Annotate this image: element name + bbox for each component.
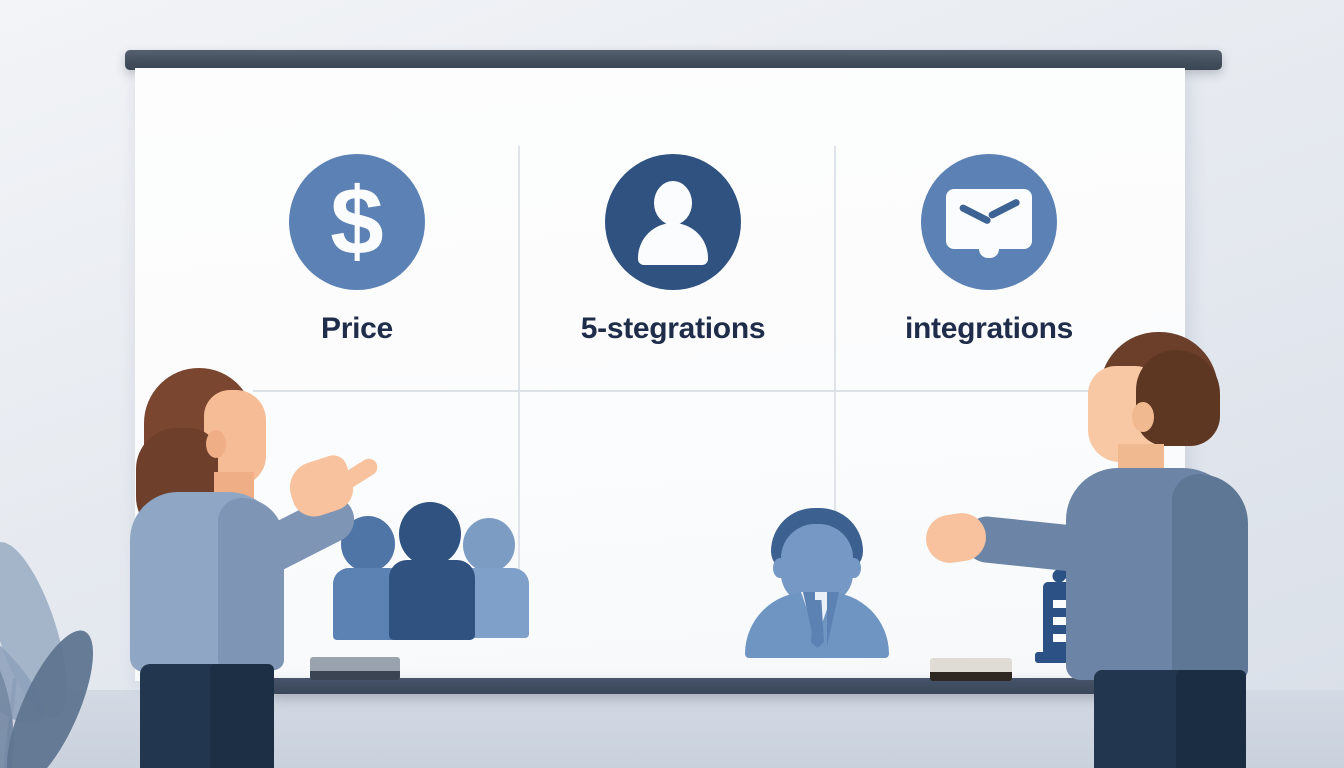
- man-hair-top: [1136, 350, 1220, 446]
- cell-price[interactable]: $ Price: [199, 154, 515, 346]
- dollar-circle-icon[interactable]: $: [289, 154, 425, 290]
- woman-ear: [206, 430, 226, 458]
- businessman-icon[interactable]: [745, 508, 905, 658]
- envelope-circle-icon[interactable]: [921, 154, 1057, 290]
- whiteboard-eraser-right[interactable]: [930, 658, 1012, 680]
- user-circle-icon[interactable]: [605, 154, 741, 290]
- user-glyph: [628, 179, 718, 265]
- group-person-body: [389, 560, 475, 640]
- businessman-lapel: [785, 592, 815, 646]
- user-shoulders: [638, 223, 708, 265]
- envelope-glyph: [946, 189, 1032, 255]
- user-head: [654, 181, 692, 225]
- eraser-base: [930, 672, 1012, 681]
- man-pants-shadow: [1176, 670, 1246, 768]
- cell-integrations[interactable]: integrations: [831, 154, 1147, 346]
- man-ear: [1132, 402, 1154, 432]
- man-sweater-shadow: [1172, 474, 1248, 680]
- man-presenter: [1060, 332, 1310, 768]
- cell-stegrations[interactable]: 5-stegrations: [515, 154, 831, 346]
- dollar-sign-glyph: $: [330, 174, 383, 270]
- cell-label-price: Price: [199, 312, 515, 346]
- group-person-head: [399, 502, 461, 566]
- illustration-scene: $ Price 5-stegrations: [0, 0, 1344, 768]
- woman-presenter: [122, 368, 352, 768]
- whiteboard-top-rail: [125, 50, 1222, 70]
- group-person-head: [463, 518, 515, 572]
- grid-divider-horizontal: [253, 390, 1093, 392]
- businessman-ear: [847, 558, 861, 578]
- cell-label-stegrations: 5-stegrations: [515, 312, 831, 346]
- businessman-ear: [773, 558, 787, 578]
- woman-skirt-shadow: [210, 664, 274, 768]
- envelope-tab: [979, 246, 999, 258]
- businessman-lapel: [827, 592, 857, 646]
- group-of-people-icon[interactable]: [333, 498, 533, 638]
